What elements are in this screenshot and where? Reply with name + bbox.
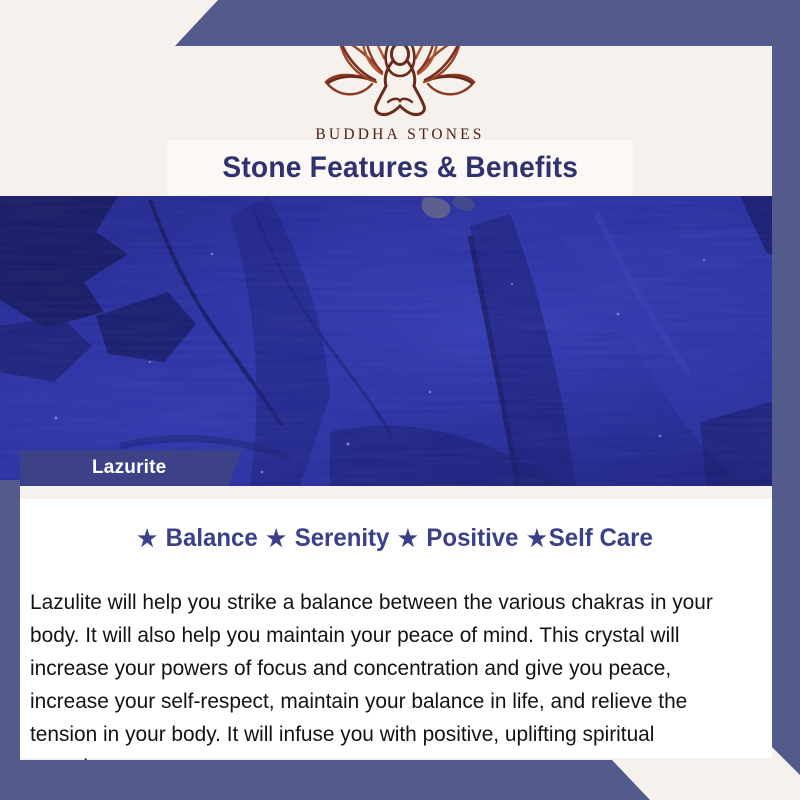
frame-left-band xyxy=(0,480,20,780)
frame-right-band xyxy=(772,0,800,775)
stone-description: Lazulite will help you strike a balance … xyxy=(30,586,738,784)
keyword-self-care: Self Care xyxy=(549,524,653,552)
star-icon: ★ xyxy=(137,525,157,551)
keyword-positive: Positive xyxy=(426,524,518,552)
page-title: Stone Features & Benefits xyxy=(222,151,578,185)
star-icon: ★ xyxy=(398,525,418,551)
stone-name: Lazurite xyxy=(92,457,166,479)
poster-root: BUDDHA STONES xyxy=(0,0,800,800)
star-icon: ★ xyxy=(527,525,547,551)
keyword-balance: Balance xyxy=(166,524,258,552)
stone-name-banner: Lazurite xyxy=(20,450,242,486)
star-icon: ★ xyxy=(266,525,286,551)
content-panel: ★ Balance ★ Serenity ★ Positive ★Self Ca… xyxy=(20,486,772,758)
stone-photo xyxy=(0,196,800,486)
panel-top-strip xyxy=(20,486,772,499)
keyword-list: ★ Balance ★ Serenity ★ Positive ★Self Ca… xyxy=(35,524,757,553)
keyword-serenity: Serenity xyxy=(295,524,390,552)
title-band: Stone Features & Benefits xyxy=(167,140,633,196)
